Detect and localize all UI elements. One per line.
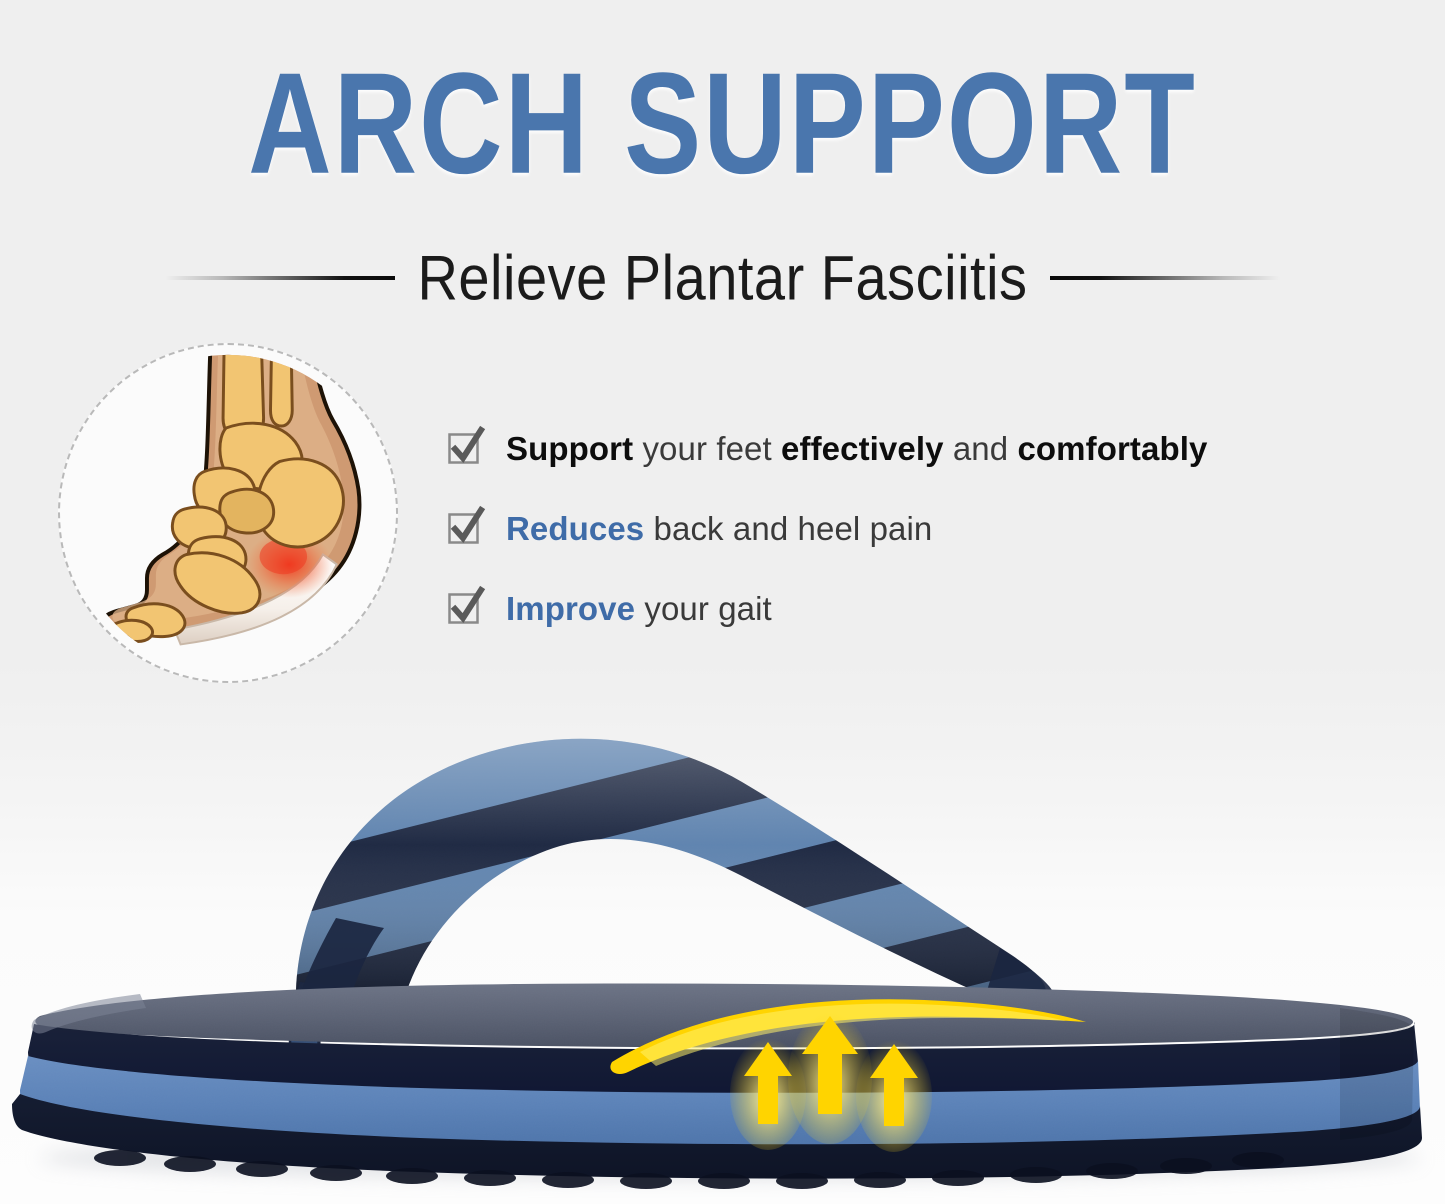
page-subtitle: Relieve Plantar Fasciitis (417, 241, 1027, 314)
benefit-part: Support (506, 430, 633, 467)
checked-checkbox-icon (448, 588, 482, 628)
benefit-part: effectively (781, 430, 944, 467)
benefit-part: Improve (506, 590, 635, 627)
list-item: Improve your gait (448, 568, 1398, 648)
checked-checkbox-icon (448, 428, 482, 468)
divider-left (165, 276, 395, 280)
subtitle-row: Relieve Plantar Fasciitis (0, 245, 1445, 310)
foot-anatomy-illustration (58, 343, 398, 683)
benefit-part: your gait (635, 590, 772, 627)
benefit-part: Reduces (506, 510, 644, 547)
poster-canvas: ARCH SUPPORT Relieve Plantar Fasciitis (0, 0, 1445, 1204)
sandal-sole (12, 984, 1422, 1190)
page-title: ARCH SUPPORT (14, 52, 1430, 196)
benefit-part: your feet (633, 430, 781, 467)
product-image-sandal (0, 690, 1445, 1204)
list-item: Support your feet effectively and comfor… (448, 408, 1398, 488)
benefit-text: Improve your gait (506, 592, 772, 625)
checked-checkbox-icon (448, 508, 482, 548)
divider-right (1050, 276, 1280, 280)
benefit-part: back and heel pain (644, 510, 932, 547)
benefit-text: Support your feet effectively and comfor… (506, 432, 1207, 465)
list-item: Reduces back and heel pain (448, 488, 1398, 568)
benefit-text: Reduces back and heel pain (506, 512, 932, 545)
benefit-part: and (944, 430, 1018, 467)
benefit-list: Support your feet effectively and comfor… (448, 408, 1398, 648)
benefit-part: comfortably (1017, 430, 1207, 467)
